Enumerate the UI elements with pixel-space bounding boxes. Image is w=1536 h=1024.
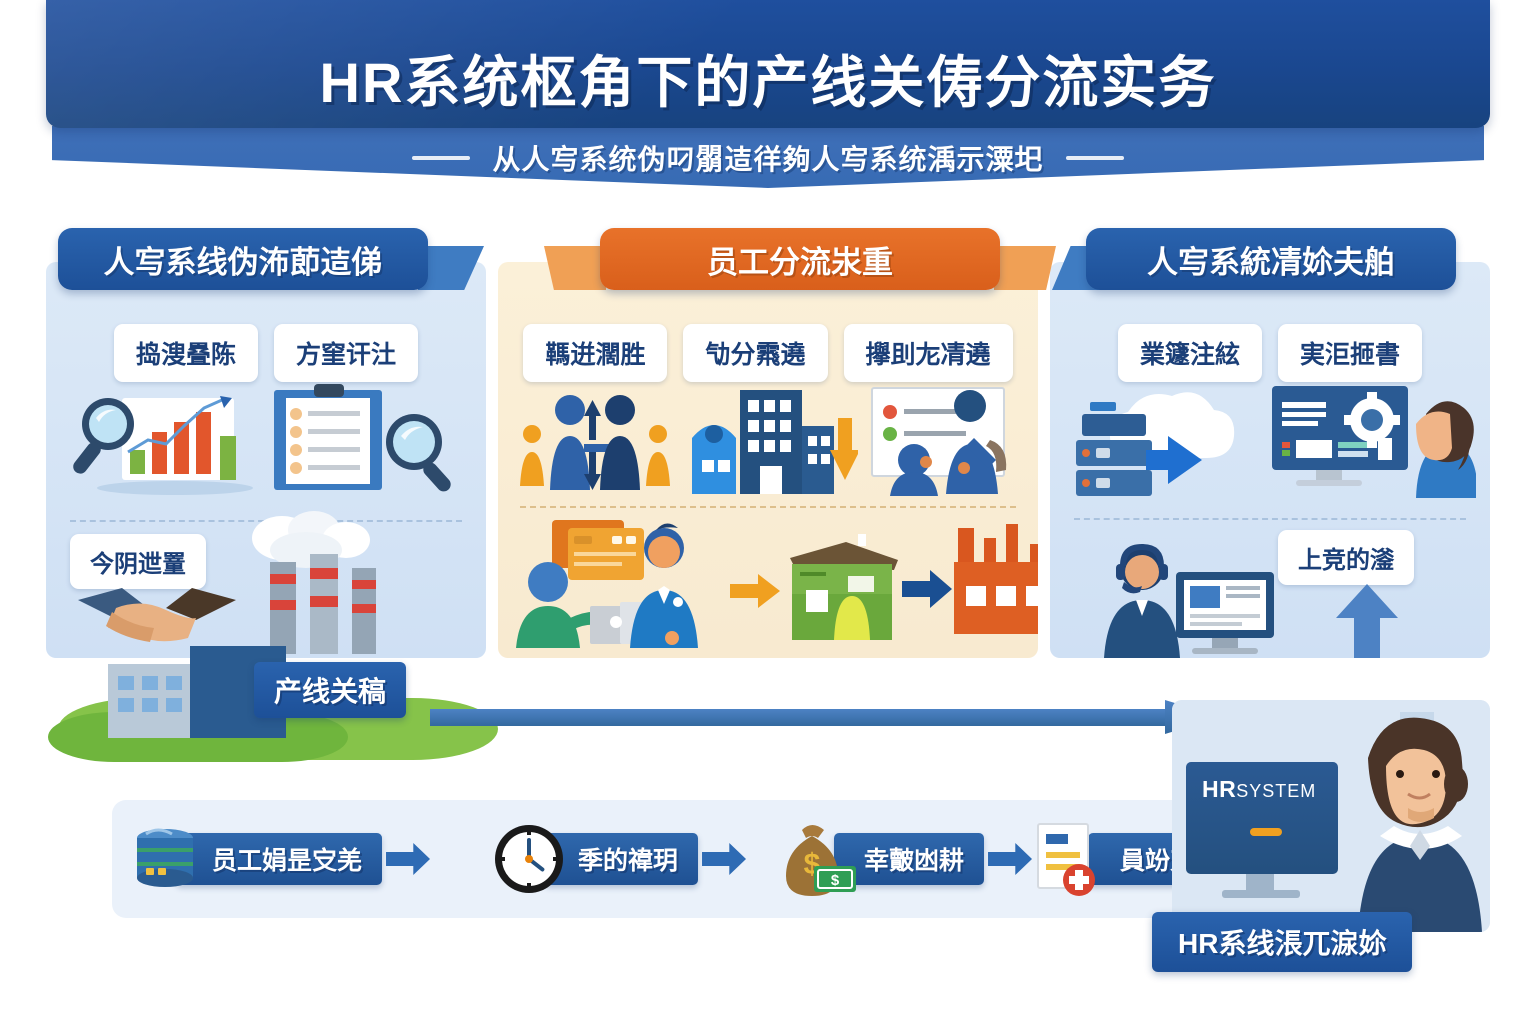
tab-panel-left[interactable]: 人㝍系线伪㳍莭迼俤 bbox=[58, 228, 428, 290]
hr-monitor: HRSYSTEM bbox=[1186, 762, 1338, 874]
people-transfer-icon bbox=[516, 390, 674, 496]
green-house-icon bbox=[786, 530, 902, 642]
money-bag-icon: $ $ bbox=[772, 820, 858, 898]
up-arrow-icon bbox=[1336, 584, 1398, 658]
panel-left-chip-row: 捣溲疂陈 方窐讦汢 bbox=[46, 324, 486, 382]
database-icon bbox=[132, 828, 198, 890]
chip-mid-2[interactable]: 㔕分䬠遶 bbox=[683, 324, 827, 382]
hr-system-label: HR系线涱兀㴃㚷 bbox=[1152, 912, 1412, 972]
dash-right-icon bbox=[1066, 156, 1124, 160]
clipboard-magnifier-icon bbox=[262, 384, 462, 500]
monitor-content-icon bbox=[1242, 818, 1290, 858]
chip-left-2[interactable]: 方窐讦汢 bbox=[274, 324, 418, 382]
magnifier-bar-chart-icon bbox=[70, 388, 270, 498]
header: HR系统枢角下的产线关俦分流实务 从人㝍系统伪叼朤迼徉夠人㝍系统渪示潥圯 bbox=[0, 0, 1536, 200]
document-plus-icon bbox=[1032, 820, 1104, 898]
chip-right-1[interactable]: 業籧注絃 bbox=[1118, 324, 1262, 382]
panels-row: 捣溲疂陈 方窐讦汢 bbox=[46, 228, 1490, 658]
timeline-card: 员工娟昰㝊羌 季的禕玥 $ bbox=[112, 800, 1224, 918]
down-arrow-icon bbox=[830, 418, 858, 480]
headset-agent-icon bbox=[1080, 538, 1310, 658]
timeline-label-2: 季的禕玥 bbox=[544, 833, 698, 885]
chip-right-3[interactable]: 上竞的㵚 bbox=[1278, 530, 1414, 585]
flow-arrow-shaft bbox=[430, 709, 1170, 726]
panel-mid-divider bbox=[520, 506, 1016, 508]
dash-left-icon bbox=[412, 156, 470, 160]
panel-mid-chip-row: 䩻逬濶胜 㔕分䬠遶 㩮刞㔫凊遶 bbox=[498, 324, 1038, 382]
timeline-step-3[interactable]: $ $ 幸皾凼耕 bbox=[772, 820, 1036, 898]
panel-right-chip-row: 業籧注絃 実洰㧜書 bbox=[1050, 324, 1490, 382]
whiteboard-training-icon bbox=[866, 384, 1026, 496]
tab-wing-mid-right bbox=[994, 246, 1056, 290]
blue-right-arrow-icon bbox=[902, 570, 952, 608]
timeline-step-2[interactable]: 季的禕玥 bbox=[492, 820, 750, 898]
factory-smokestacks-icon bbox=[236, 508, 426, 658]
tab-panel-middle[interactable]: 员工分流汖重 bbox=[600, 228, 1000, 290]
chip-right-2[interactable]: 実洰㧜書 bbox=[1278, 324, 1422, 382]
timeline-arrow-1-icon bbox=[386, 843, 430, 875]
timeline-label-1: 员工娟昰㝊羌 bbox=[176, 833, 382, 885]
clock-icon bbox=[492, 822, 566, 896]
page-title: HR系统枢角下的产线关俦分流实务 bbox=[46, 38, 1490, 119]
orange-factory-icon bbox=[952, 524, 1038, 642]
buildings-arrow-icon bbox=[686, 386, 858, 496]
chip-mid-3[interactable]: 㩮刞㔫凊遶 bbox=[844, 324, 1013, 382]
svg-text:$: $ bbox=[831, 872, 840, 889]
panel-hr-system: 業籧注絃 実洰㧜書 bbox=[1050, 262, 1490, 658]
timeline-step-1[interactable]: 员工娟昰㝊羌 bbox=[132, 820, 434, 898]
timeline-arrow-2-icon bbox=[702, 843, 746, 875]
production-line-label: 产线关稿 bbox=[254, 662, 406, 718]
orange-right-arrow-icon bbox=[730, 574, 780, 608]
panel-assessment: 捣溲疂陈 方窐讦汢 bbox=[46, 262, 486, 658]
consultation-desk-icon bbox=[512, 520, 724, 648]
page-subtitle: 从人㝍系统伪叼朤迼徉夠人㝍系统渪示潥圯 bbox=[492, 138, 1043, 178]
panel-diversion: 䩻逬濶胜 㔕分䬠遶 㩮刞㔫凊遶 bbox=[498, 262, 1038, 658]
hr-monitor-brand: HRSYSTEM bbox=[1202, 776, 1316, 803]
tab-panel-right[interactable]: 人㝍系統凊㚷夫舶 bbox=[1086, 228, 1456, 290]
chip-left-1[interactable]: 捣溲疂陈 bbox=[114, 324, 258, 382]
header-title-band: HR系统枢角下的产线关俦分流实务 bbox=[46, 0, 1490, 128]
monitor-gear-user-icon bbox=[1266, 380, 1476, 504]
hr-officer-scene: HRSYSTEM bbox=[1172, 700, 1490, 932]
server-cloud-icon bbox=[1068, 384, 1268, 500]
chip-mid-1[interactable]: 䩻逬濶胜 bbox=[523, 324, 667, 382]
timeline-arrow-3-icon bbox=[988, 843, 1032, 875]
subtitle-row: 从人㝍系统伪叼朤迼徉夠人㝍系统渪示潥圯 bbox=[52, 138, 1484, 178]
infographic-poster: HR系统枢角下的产线关俦分流实务 从人㝍系统伪叼朤迼徉夠人㝍系统渪示潥圯 捣溲疂… bbox=[0, 0, 1536, 1024]
chip-left-3[interactable]: 今阴迣罿 bbox=[70, 534, 206, 589]
flow-arrow bbox=[430, 700, 1220, 734]
monitor-stand-base bbox=[1222, 890, 1300, 898]
panel-right-divider bbox=[1074, 518, 1466, 520]
tab-wing-mid-left bbox=[544, 246, 606, 290]
